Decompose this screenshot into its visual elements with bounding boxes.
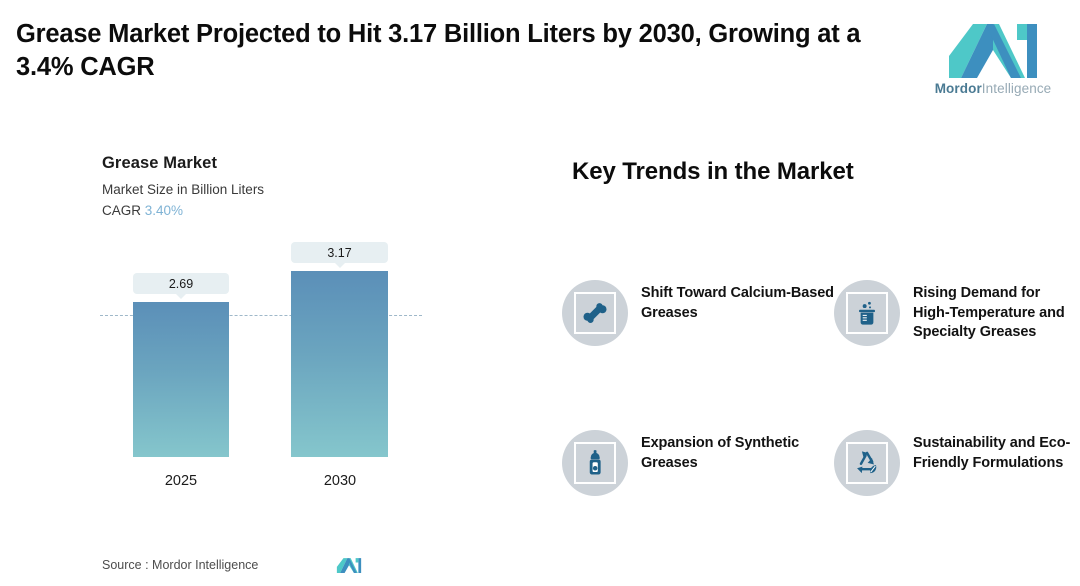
- trend-item-3[interactable]: Expansion of Synthetic Greases: [562, 430, 834, 580]
- chart-subtitle: Market Size in Billion Liters: [102, 182, 264, 197]
- trends-panel: Key Trends in the Market S: [552, 140, 1080, 586]
- recycle-leaf-glyph: [852, 448, 882, 478]
- bar-2030[interactable]: [291, 271, 388, 457]
- cagr-value: 3.40%: [145, 203, 183, 218]
- cagr-label: CAGR: [102, 203, 141, 218]
- source-text: Source : Mordor Intelligence: [102, 558, 258, 572]
- beaker-icon: [834, 280, 900, 346]
- trend-label-2: Rising Demand for High-Temperature and S…: [913, 284, 1080, 343]
- bar-value-label-2030: 3.17: [291, 242, 388, 263]
- trend-item-1[interactable]: Shift Toward Calcium-Based Greases: [562, 280, 834, 430]
- source-mordor-m-logo-icon: [336, 557, 362, 573]
- trends-heading: Key Trends in the Market: [572, 158, 854, 186]
- page-title: Grease Market Projected to Hit 3.17 Bill…: [16, 18, 896, 84]
- brand-wordmark: MordorIntelligence: [935, 81, 1052, 96]
- mordor-m-logo-icon: [947, 20, 1039, 78]
- trend-label-1: Shift Toward Calcium-Based Greases: [641, 284, 834, 323]
- chart-cagr: CAGR 3.40%: [102, 203, 183, 218]
- source-label: Source :: [102, 558, 149, 572]
- x-axis-tick-2025: 2025: [121, 473, 241, 489]
- grease-nipple-glyph: [580, 298, 610, 328]
- source-row: Source : Mordor Intelligence: [102, 554, 502, 576]
- chart-panel: Grease Market Market Size in Billion Lit…: [0, 140, 520, 586]
- brand-word-primary: Mordor: [935, 81, 982, 96]
- bar-2025[interactable]: [133, 302, 229, 457]
- bar-value-label-2025: 2.69: [133, 273, 229, 294]
- x-axis-tick-2030: 2030: [280, 473, 400, 489]
- recycle-leaf-icon: [834, 430, 900, 496]
- beaker-glyph: [852, 298, 882, 328]
- chart-title: Grease Market: [102, 154, 217, 173]
- trend-label-4: Sustainability and Eco-Friendly Formulat…: [913, 434, 1080, 473]
- trend-label-3: Expansion of Synthetic Greases: [641, 434, 834, 473]
- brand-word-secondary: Intelligence: [982, 81, 1052, 96]
- spray-can-glyph: [580, 448, 610, 478]
- trend-item-4[interactable]: Sustainability and Eco-Friendly Formulat…: [834, 430, 1080, 580]
- grease-nipple-icon: [562, 280, 628, 346]
- trend-item-2[interactable]: Rising Demand for High-Temperature and S…: [834, 280, 1080, 430]
- trends-grid: Shift Toward Calcium-Based Greases: [562, 280, 1080, 580]
- source-name: Mordor Intelligence: [152, 558, 258, 572]
- infographic-page: Grease Market Projected to Hit 3.17 Bill…: [0, 0, 1080, 586]
- brand-logo: MordorIntelligence: [920, 20, 1066, 104]
- bar-chart-plot: 2.69 3.17 2025 2030: [0, 235, 520, 525]
- spray-can-icon: [562, 430, 628, 496]
